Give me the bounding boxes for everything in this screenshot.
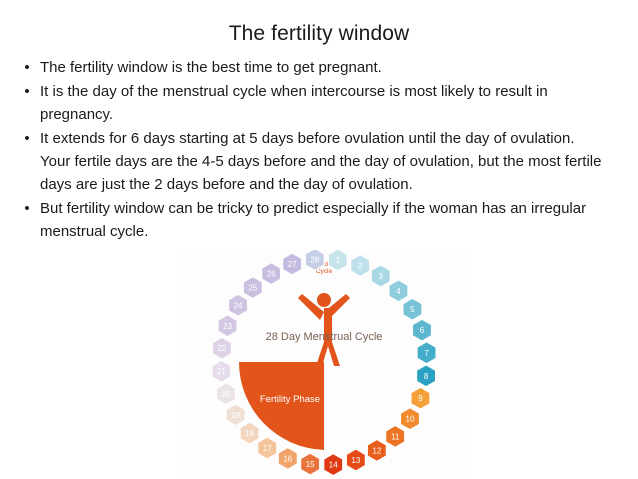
bullet-marker: • bbox=[14, 197, 40, 220]
cycle-svg: 28 Day Menstrual Cycle Fertility Phase B… bbox=[178, 250, 470, 478]
day-node-label: 23 bbox=[223, 322, 232, 331]
list-item: • The fertility window is the best time … bbox=[14, 56, 620, 79]
list-item: • It extends for 6 days starting at 5 da… bbox=[14, 127, 620, 196]
day-node-label: 3 bbox=[379, 272, 384, 281]
day-node-label: 18 bbox=[245, 429, 254, 438]
bullet-marker: • bbox=[14, 80, 40, 103]
day-node-label: 16 bbox=[283, 454, 292, 463]
day-node-label: 15 bbox=[306, 460, 315, 469]
bullet-text: It is the day of the menstrual cycle whe… bbox=[40, 80, 620, 126]
day-node-label: 8 bbox=[424, 372, 429, 381]
day-node-label: 24 bbox=[234, 301, 243, 310]
day-node-label: 6 bbox=[420, 326, 425, 335]
bullet-text: But fertility window can be tricky to pr… bbox=[40, 197, 620, 243]
menstrual-cycle-diagram: 28 Day Menstrual Cycle Fertility Phase B… bbox=[178, 250, 470, 478]
day-node-label: 7 bbox=[424, 349, 429, 358]
bullet-text: It extends for 6 days starting at 5 days… bbox=[40, 127, 620, 196]
bullet-list: • The fertility window is the best time … bbox=[0, 50, 638, 243]
day-node-label: 22 bbox=[217, 344, 226, 353]
day-node-label: 19 bbox=[231, 411, 240, 420]
day-node-label: 11 bbox=[391, 432, 400, 441]
day-node-label: 10 bbox=[406, 415, 415, 424]
day-node-label: 1 bbox=[336, 256, 341, 265]
day-node-label: 12 bbox=[372, 446, 381, 455]
bullet-text: The fertility window is the best time to… bbox=[40, 56, 396, 79]
day-node-label: 13 bbox=[351, 456, 360, 465]
day-node-label: 4 bbox=[396, 287, 401, 296]
bullet-marker: • bbox=[14, 56, 40, 79]
bullet-marker: • bbox=[14, 127, 40, 150]
page-title: The fertility window bbox=[0, 0, 638, 50]
day-node-label: 28 bbox=[310, 255, 319, 264]
day-node-label: 2 bbox=[358, 262, 363, 271]
center-label: 28 Day Menstrual Cycle bbox=[266, 331, 383, 343]
list-item: • It is the day of the menstrual cycle w… bbox=[14, 80, 620, 126]
day-node-label: 5 bbox=[410, 305, 415, 314]
fertility-phase-label: Fertility Phase bbox=[260, 394, 320, 405]
day-node-label: 17 bbox=[263, 444, 272, 453]
day-node-label: 27 bbox=[288, 260, 297, 269]
day-node-label: 20 bbox=[222, 390, 231, 399]
slide: The fertility window • The fertility win… bbox=[0, 0, 638, 479]
day-node-label: 9 bbox=[418, 394, 423, 403]
day-node-label: 25 bbox=[248, 284, 257, 293]
day-node-label: 26 bbox=[267, 270, 276, 279]
list-item: • But fertility window can be tricky to … bbox=[14, 197, 620, 243]
day-node-label: 14 bbox=[329, 461, 338, 470]
day-node-label: 21 bbox=[217, 367, 226, 376]
bleeding-cycle-label-line2: Cycle bbox=[316, 268, 333, 275]
